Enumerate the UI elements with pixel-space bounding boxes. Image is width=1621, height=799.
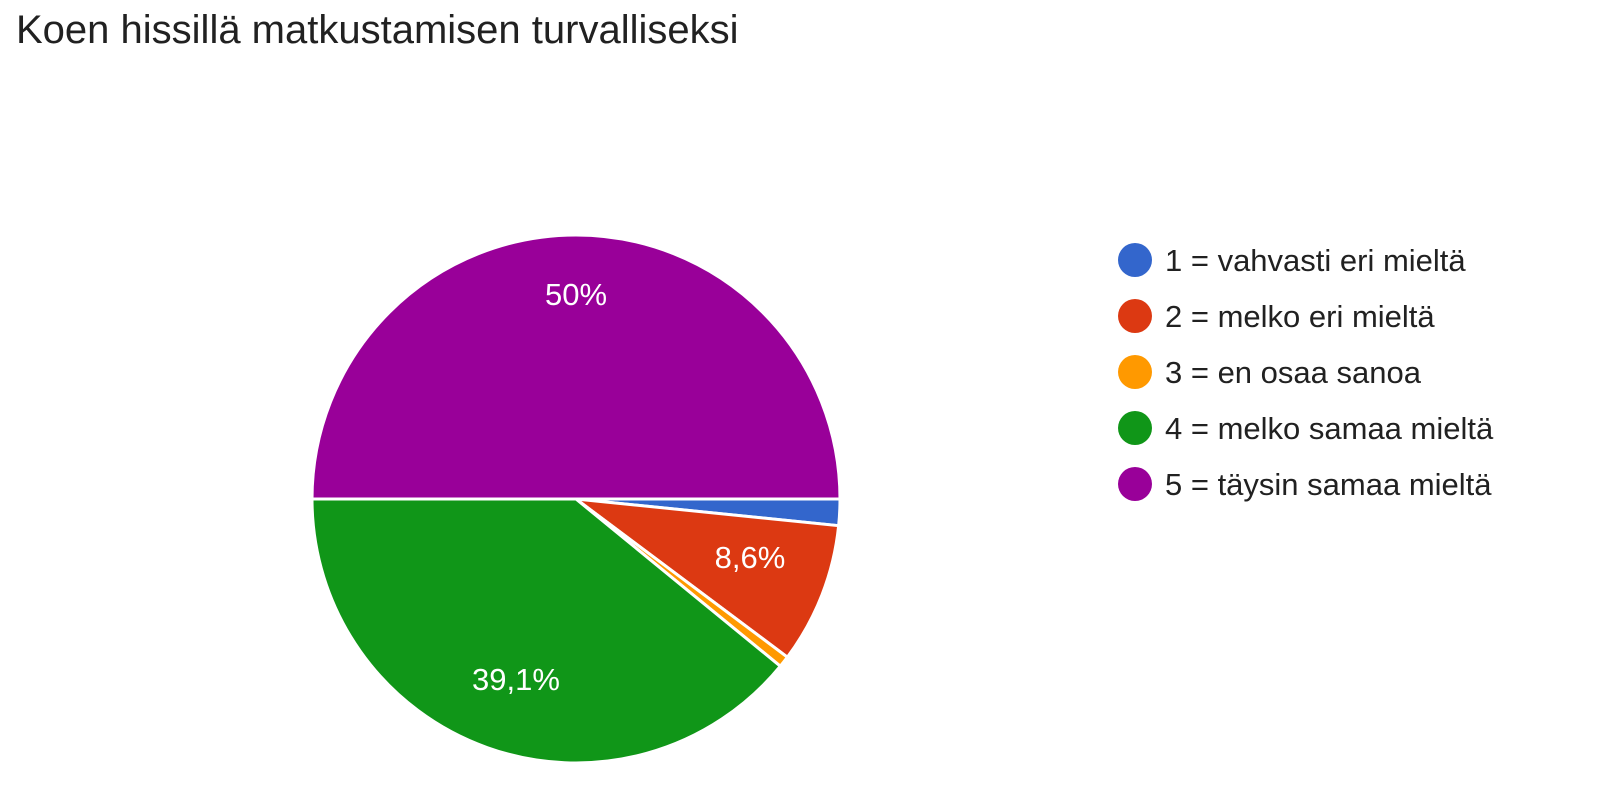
legend-item-1[interactable]: 1 = vahvasti eri mieltä bbox=[1118, 232, 1588, 288]
legend-item-label: 3 = en osaa sanoa bbox=[1165, 357, 1421, 388]
legend-item-5[interactable]: 5 = täysin samaa mieltä bbox=[1118, 456, 1588, 512]
pie-slice-group bbox=[312, 235, 840, 763]
legend-item-label: 4 = melko samaa mieltä bbox=[1165, 413, 1493, 444]
pie-chart-container: Koen hissillä matkustamisen turvalliseks… bbox=[0, 0, 1621, 799]
legend-swatch-icon bbox=[1118, 243, 1152, 277]
legend-swatch-icon bbox=[1118, 355, 1152, 389]
legend-item-label: 5 = täysin samaa mieltä bbox=[1165, 469, 1492, 500]
legend-swatch-icon bbox=[1118, 299, 1152, 333]
chart-legend: 1 = vahvasti eri mieltä2 = melko eri mie… bbox=[1118, 232, 1588, 512]
pie-slice-5[interactable] bbox=[312, 235, 840, 499]
legend-item-label: 1 = vahvasti eri mieltä bbox=[1165, 245, 1466, 276]
legend-item-2[interactable]: 2 = melko eri mieltä bbox=[1118, 288, 1588, 344]
pie-svg: 8,6%39,1%50% bbox=[0, 0, 1100, 799]
legend-swatch-icon bbox=[1118, 411, 1152, 445]
legend-item-3[interactable]: 3 = en osaa sanoa bbox=[1118, 344, 1588, 400]
legend-item-4[interactable]: 4 = melko samaa mieltä bbox=[1118, 400, 1588, 456]
pie-slice-label-2: 8,6% bbox=[715, 540, 786, 575]
pie-slice-label-4: 39,1% bbox=[472, 662, 560, 697]
legend-item-label: 2 = melko eri mieltä bbox=[1165, 301, 1435, 332]
legend-swatch-icon bbox=[1118, 467, 1152, 501]
pie-plot-area: 8,6%39,1%50% bbox=[0, 0, 1100, 799]
pie-slice-label-5: 50% bbox=[545, 277, 607, 312]
